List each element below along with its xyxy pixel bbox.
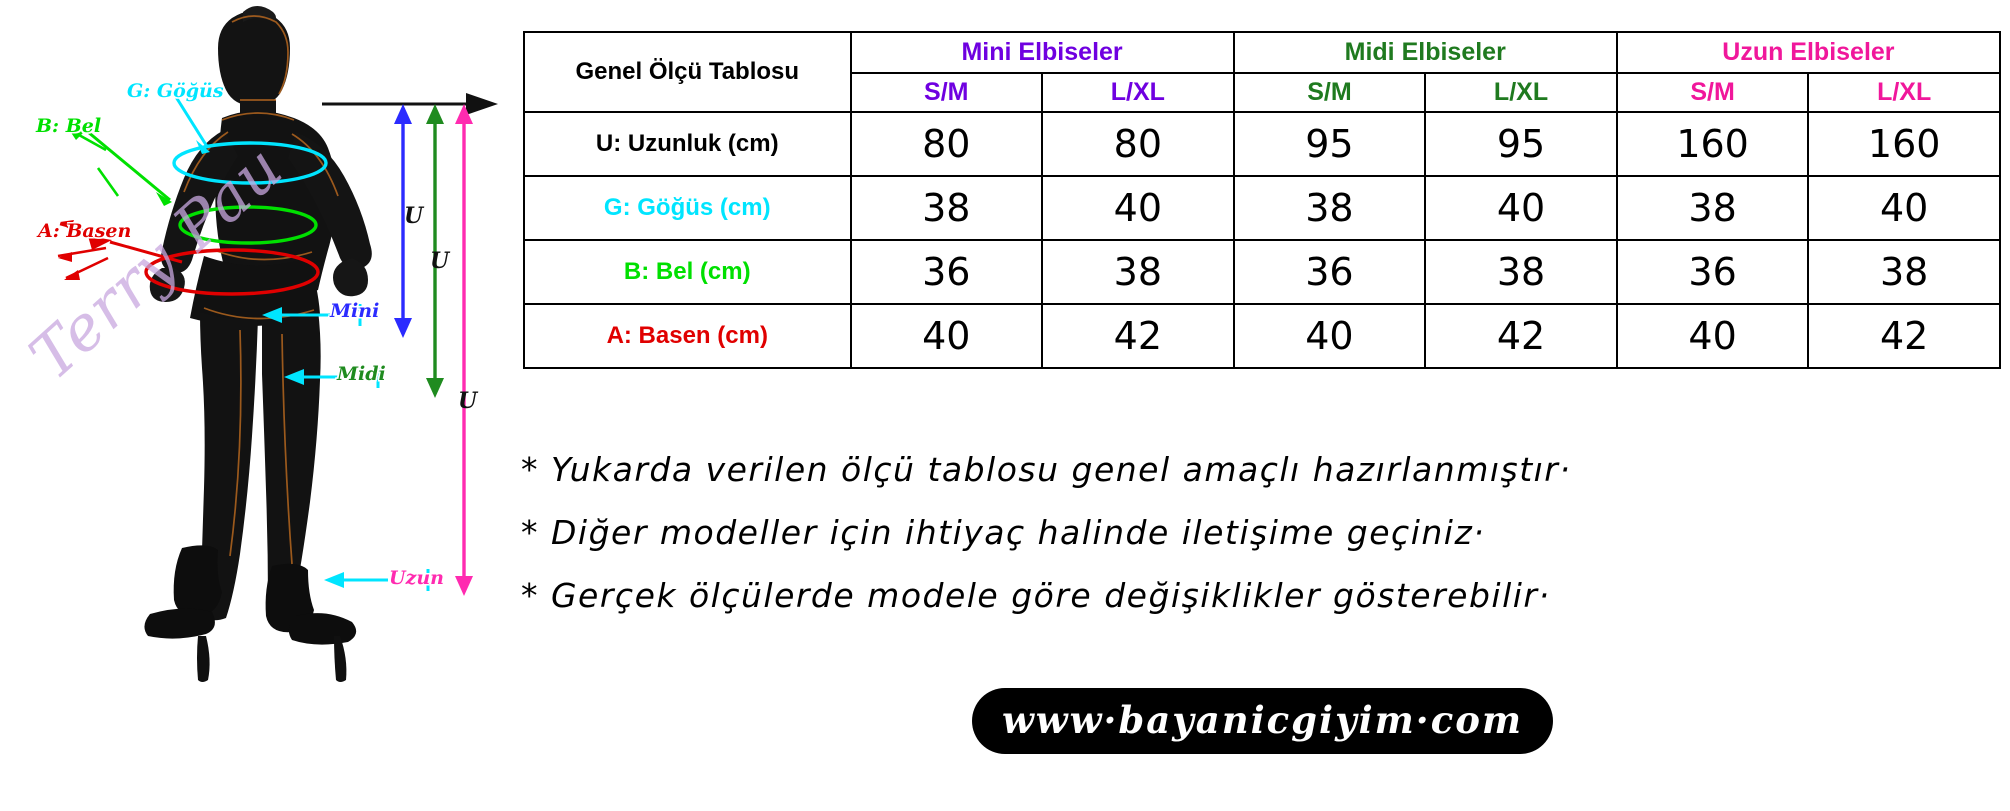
uzun-length-arrow: [455, 104, 473, 596]
label-basen: A: Basen: [38, 220, 131, 242]
table-row: G: Göğüs (cm) 38 40 38 40 38 40: [524, 176, 2000, 240]
label-gogus: G: Göğüs: [127, 80, 224, 102]
table-row: B: Bel (cm) 36 38 36 38 36 38: [524, 240, 2000, 304]
cell-bel-midi-sm: 36: [1234, 240, 1426, 304]
cell-uzunluk-midi-sm: 95: [1234, 112, 1426, 176]
cell-gogus-uzun-sm: 38: [1617, 176, 1809, 240]
row-label-gogus: G: Göğüs (cm): [524, 176, 851, 240]
length-mark-mini: U: [404, 203, 423, 229]
cell-basen-mini-sm: 40: [851, 304, 1043, 368]
cell-basen-midi-sm: 40: [1234, 304, 1426, 368]
cell-uzunluk-uzun-lxl: 160: [1808, 112, 2000, 176]
size-chart-sheet: Terry Pau G: Göğüs B: Bel A: Basen Mini …: [0, 0, 2010, 811]
label-bel: B: Bel: [36, 115, 101, 137]
label-mini: Mini: [330, 300, 379, 322]
cell-basen-uzun-lxl: 42: [1808, 304, 2000, 368]
cell-gogus-uzun-lxl: 40: [1808, 176, 2000, 240]
cell-basen-midi-lxl: 42: [1425, 304, 1617, 368]
table-row: U: Uzunluk (cm) 80 80 95 95 160 160: [524, 112, 2000, 176]
note-item: * Gerçek ölçülerde modele göre değişikli…: [521, 564, 2001, 627]
label-uzun: Uzun: [389, 567, 444, 589]
content-panel: Genel Ölçü Tablosu Mini Elbiseler Midi E…: [515, 0, 2010, 811]
table-group-header-row: Genel Ölçü Tablosu Mini Elbiseler Midi E…: [524, 32, 2000, 73]
cell-uzunluk-midi-lxl: 95: [1425, 112, 1617, 176]
cell-uzunluk-mini-sm: 80: [851, 112, 1043, 176]
size-header-mini-sm: S/M: [851, 73, 1043, 112]
size-header-mini-lxl: L/XL: [1042, 73, 1234, 112]
cell-gogus-mini-sm: 38: [851, 176, 1043, 240]
label-midi: Midi: [337, 363, 386, 385]
note-item: * Yukarda verilen ölçü tablosu genel ama…: [521, 438, 2001, 501]
cell-gogus-midi-lxl: 40: [1425, 176, 1617, 240]
row-label-uzunluk: U: Uzunluk (cm): [524, 112, 851, 176]
row-label-bel: B: Bel (cm): [524, 240, 851, 304]
cell-uzunluk-mini-lxl: 80: [1042, 112, 1234, 176]
website-url[interactable]: www·bayanicgiyim·com: [972, 688, 1553, 754]
length-mark-midi: U: [430, 248, 449, 274]
cell-uzunluk-uzun-sm: 160: [1617, 112, 1809, 176]
cell-bel-mini-sm: 36: [851, 240, 1043, 304]
size-header-midi-lxl: L/XL: [1425, 73, 1617, 112]
group-header-uzun: Uzun Elbiseler: [1617, 32, 2000, 73]
website-banner-wrap: www·bayanicgiyim·com: [515, 688, 2010, 754]
top-axis-arrowhead: [466, 93, 498, 115]
note-item: * Diğer modeller için ihtiyaç halinde il…: [521, 501, 2001, 564]
size-header-midi-sm: S/M: [1234, 73, 1426, 112]
cell-gogus-midi-sm: 38: [1234, 176, 1426, 240]
length-mark-uzun: U: [458, 388, 477, 414]
cell-bel-uzun-lxl: 38: [1808, 240, 2000, 304]
size-header-uzun-sm: S/M: [1617, 73, 1809, 112]
cell-gogus-mini-lxl: 40: [1042, 176, 1234, 240]
row-label-basen: A: Basen (cm): [524, 304, 851, 368]
cell-basen-mini-lxl: 42: [1042, 304, 1234, 368]
cell-bel-uzun-sm: 36: [1617, 240, 1809, 304]
model-illustration-panel: Terry Pau G: Göğüs B: Bel A: Basen Mini …: [0, 0, 515, 811]
size-chart-table: Genel Ölçü Tablosu Mini Elbiseler Midi E…: [523, 31, 2001, 369]
cell-bel-mini-lxl: 38: [1042, 240, 1234, 304]
notes-list: * Yukarda verilen ölçü tablosu genel ama…: [521, 438, 2001, 627]
cell-bel-midi-lxl: 38: [1425, 240, 1617, 304]
group-header-mini: Mini Elbiseler: [851, 32, 1234, 73]
cell-basen-uzun-sm: 40: [1617, 304, 1809, 368]
table-row: A: Basen (cm) 40 42 40 42 40 42: [524, 304, 2000, 368]
group-header-midi: Midi Elbiseler: [1234, 32, 1617, 73]
size-header-uzun-lxl: L/XL: [1808, 73, 2000, 112]
table-corner-label: Genel Ölçü Tablosu: [524, 32, 851, 112]
